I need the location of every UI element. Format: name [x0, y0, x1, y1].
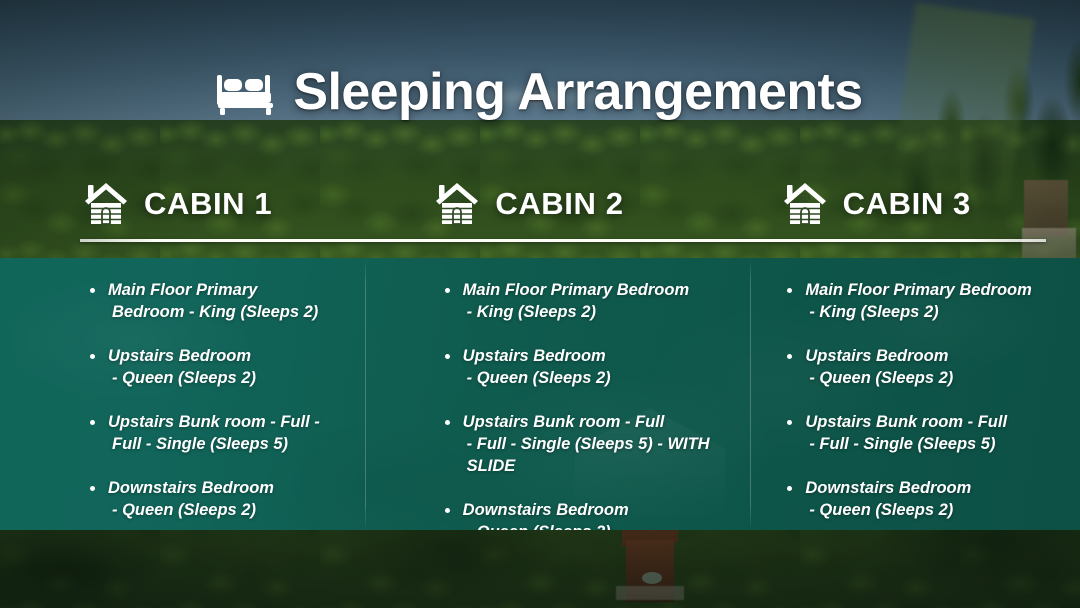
list-item: Upstairs Bunk room - Full - Full - Singl… [787, 412, 1066, 456]
list-item: Upstairs Bunk room - Full - Full - Singl… [90, 412, 369, 456]
list-item: Downstairs Bedroom - Queen (Sleeps 2) [90, 478, 369, 522]
list-item: Main Floor Primary Bedroom - King (Sleep… [90, 280, 369, 324]
cabin-header-label: CABIN 1 [144, 186, 272, 222]
list-item-line1: Upstairs Bunk room - Full - [108, 413, 320, 431]
cabin-header-2: CABIN 2 [381, 176, 732, 232]
column-cabin-3: Main Floor Primary Bedroom - King (Sleep… [737, 258, 1080, 530]
list-item-line1: Upstairs Bedroom [805, 347, 948, 365]
cabin-icon [433, 180, 481, 228]
cabin-icon [781, 180, 829, 228]
list-item: Downstairs Bedroom - Queen (Sleeps 2) [787, 478, 1066, 522]
list-item-line1: Main Floor Primary [108, 281, 257, 299]
list-item-line2: - Queen (Sleeps 2) [108, 500, 369, 522]
page-title: Sleeping Arrangements [293, 66, 862, 118]
header-divider-rule [80, 239, 1046, 242]
list-item: Upstairs Bedroom - Queen (Sleeps 2) [445, 346, 724, 390]
list-item-line2: - Queen (Sleeps 2) [805, 500, 1066, 522]
title-row: Sleeping Arrangements [0, 66, 1080, 118]
list-item: Main Floor Primary Bedroom - King (Sleep… [787, 280, 1066, 324]
bed-icon [217, 73, 275, 117]
list-item-line2: Full - Single (Sleeps 5) [108, 434, 369, 456]
list-item-line2: - Full - Single (Sleeps 5) [805, 434, 1066, 456]
bullet-list: Main Floor Primary Bedroom - King (Sleep… [90, 280, 369, 522]
list-item-line1: Upstairs Bunk room - Full [463, 413, 665, 431]
column-cabin-2: Main Floor Primary Bedroom - King (Sleep… [387, 258, 738, 530]
list-item-line2: - King (Sleeps 2) [463, 302, 724, 324]
slide-root: Sleeping Arrangements [0, 0, 1080, 608]
sleeping-arrangements-panel: Main Floor Primary Bedroom - King (Sleep… [0, 258, 1080, 530]
list-item-line2: - Queen (Sleeps 2) [463, 522, 724, 531]
cabin-header-label: CABIN 3 [843, 186, 971, 222]
list-item-line1: Downstairs Bedroom [463, 501, 629, 519]
cabin-header-label: CABIN 2 [495, 186, 623, 222]
list-item-line2: - Queen (Sleeps 2) [463, 368, 724, 390]
list-item-line2: - Queen (Sleeps 2) [108, 368, 369, 390]
cabin-header-1: CABIN 1 [0, 176, 381, 232]
list-item: Upstairs Bedroom - Queen (Sleeps 2) [787, 346, 1066, 390]
list-item: Upstairs Bunk room - Full - Full - Singl… [445, 412, 724, 478]
list-item: Upstairs Bedroom - Queen (Sleeps 2) [90, 346, 369, 390]
list-item-line1: Upstairs Bedroom [108, 347, 251, 365]
column-cabin-1: Main Floor Primary Bedroom - King (Sleep… [0, 258, 387, 530]
cabin-icon [82, 180, 130, 228]
list-item-line1: Upstairs Bunk room - Full [805, 413, 1007, 431]
bullet-list: Main Floor Primary Bedroom - King (Sleep… [445, 280, 724, 530]
list-item-line1: Downstairs Bedroom [108, 479, 274, 497]
list-item-line1: Downstairs Bedroom [805, 479, 971, 497]
list-item-line1: Upstairs Bedroom [463, 347, 606, 365]
cabin-headers: CABIN 1 [0, 176, 1080, 232]
list-item-line1: Main Floor Primary Bedroom [805, 281, 1031, 299]
cabin-header-3: CABIN 3 [733, 176, 1080, 232]
list-item-line2: - Queen (Sleeps 2) [805, 368, 1066, 390]
bullet-list: Main Floor Primary Bedroom - King (Sleep… [787, 280, 1066, 522]
list-item-line2: Bedroom - King (Sleeps 2) [108, 302, 369, 324]
list-item-line1: Main Floor Primary Bedroom [463, 281, 689, 299]
list-item-line2: - King (Sleeps 2) [805, 302, 1066, 324]
list-item-line2: - Full - Single (Sleeps 5) - WITH SLIDE [463, 434, 724, 478]
list-item: Main Floor Primary Bedroom - King (Sleep… [445, 280, 724, 324]
columns-container: Main Floor Primary Bedroom - King (Sleep… [0, 258, 1080, 530]
list-item: Downstairs Bedroom - Queen (Sleeps 2) [445, 500, 724, 530]
